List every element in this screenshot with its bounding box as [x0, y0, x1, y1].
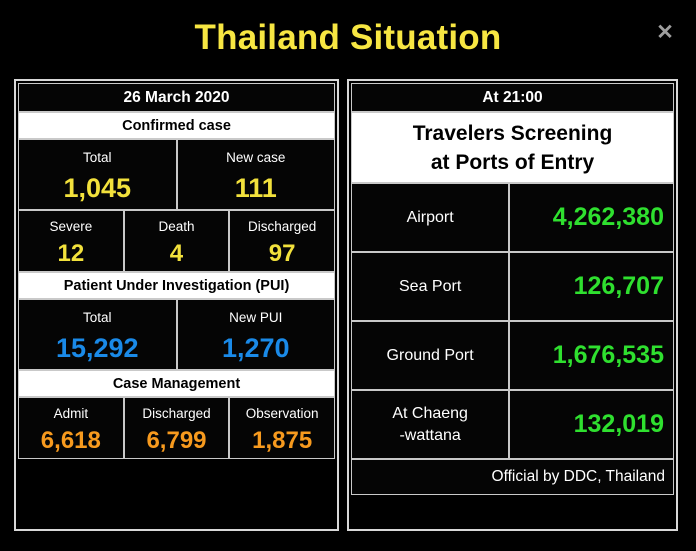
- stat-label: New PUI: [229, 308, 282, 326]
- stat-value: 1,875: [252, 429, 312, 453]
- port-label-text: Sea Port: [399, 276, 461, 298]
- port-row-airport: Airport 4,262,380: [351, 183, 674, 252]
- dialog-header: Thailand Situation ✕: [0, 0, 696, 76]
- port-label-ground-port: Ground Port: [351, 321, 509, 390]
- report-time: At 21:00: [351, 83, 674, 112]
- port-label-text: Airport: [407, 207, 454, 229]
- stat-value: 97: [269, 242, 296, 266]
- stat-value: 6,618: [41, 429, 101, 453]
- stat-label: Admit: [54, 404, 89, 422]
- confirmed-case-row-2: Severe 12 Death 4 Discharged 97: [18, 210, 335, 272]
- port-label-airport: Airport: [351, 183, 509, 252]
- section-header-case-management: Case Management: [18, 370, 335, 397]
- stat-value: 6,799: [146, 429, 206, 453]
- port-value-sea-port: 126,707: [509, 252, 674, 321]
- screening-title-line2: at Ports of Entry: [431, 148, 594, 177]
- stat-value: 1,270: [222, 335, 290, 362]
- port-label-text-line1: At Chaeng: [392, 403, 468, 425]
- close-icon[interactable]: ✕: [652, 20, 678, 46]
- stat-label: Total: [83, 148, 112, 166]
- stat-value: 1,045: [63, 175, 131, 202]
- case-management-row: Admit 6,618 Discharged 6,799 Observation…: [18, 397, 335, 459]
- stat-cell-admit: Admit 6,618: [18, 397, 124, 459]
- section-header-confirmed-case: Confirmed case: [18, 112, 335, 139]
- port-label-chaeng-wattana: At Chaeng -wattana: [351, 390, 509, 459]
- port-value-chaeng-wattana: 132,019: [509, 390, 674, 459]
- stat-label: Discharged: [142, 404, 210, 422]
- stat-cell-severe: Severe 12: [18, 210, 124, 272]
- section-header-pui: Patient Under Investigation (PUI): [18, 272, 335, 299]
- right-panel-spacer: [351, 495, 674, 527]
- stat-label: Observation: [246, 404, 319, 422]
- port-row-chaeng-wattana: At Chaeng -wattana 132,019: [351, 390, 674, 459]
- stat-value: 15,292: [56, 335, 139, 362]
- stat-value: 12: [57, 242, 84, 266]
- port-value-ground-port: 1,676,535: [509, 321, 674, 390]
- stat-value: 111: [235, 175, 277, 202]
- confirmed-case-row-1: Total 1,045 New case 111: [18, 139, 335, 210]
- stat-label: Total: [83, 308, 112, 326]
- domestic-cases-panel: 26 March 2020 Confirmed case Total 1,045…: [14, 79, 339, 531]
- port-label-sea-port: Sea Port: [351, 252, 509, 321]
- stat-label: Discharged: [248, 217, 316, 235]
- stat-cell-cm-discharged: Discharged 6,799: [124, 397, 230, 459]
- stat-value: 4: [170, 242, 183, 266]
- port-label-text: Ground Port: [387, 345, 474, 367]
- stat-cell-pui-total: Total 15,292: [18, 299, 177, 370]
- screening-title-line1: Travelers Screening: [413, 119, 613, 148]
- page-title: Thailand Situation: [0, 16, 696, 60]
- port-label-text-line2: -wattana: [392, 425, 468, 447]
- left-panel-spacer: [18, 459, 335, 527]
- port-row-ground-port: Ground Port 1,676,535: [351, 321, 674, 390]
- stat-cell-pui-new: New PUI 1,270: [177, 299, 336, 370]
- stat-cell-death: Death 4: [124, 210, 230, 272]
- official-source: Official by DDC, Thailand: [351, 459, 674, 495]
- stat-cell-discharged: Discharged 97: [229, 210, 335, 272]
- travelers-screening-panel: At 21:00 Travelers Screening at Ports of…: [347, 79, 678, 531]
- stat-label: New case: [226, 148, 285, 166]
- report-date: 26 March 2020: [18, 83, 335, 112]
- port-value-airport: 4,262,380: [509, 183, 674, 252]
- screening-title: Travelers Screening at Ports of Entry: [351, 112, 674, 183]
- pui-row: Total 15,292 New PUI 1,270: [18, 299, 335, 370]
- stat-cell-observation: Observation 1,875: [229, 397, 335, 459]
- stat-label: Death: [158, 217, 194, 235]
- stat-cell-confirmed-total: Total 1,045: [18, 139, 177, 210]
- stat-label: Severe: [49, 217, 92, 235]
- stat-cell-confirmed-new-case: New case 111: [177, 139, 336, 210]
- port-row-sea-port: Sea Port 126,707: [351, 252, 674, 321]
